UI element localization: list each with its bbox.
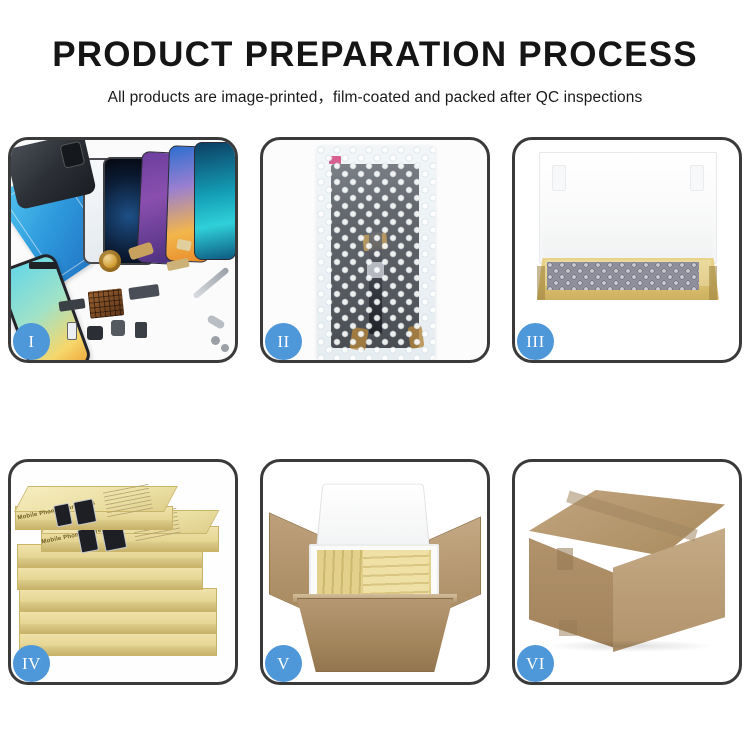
- stacked-box-3: [17, 566, 203, 590]
- box-lid-tab-right: [690, 165, 704, 191]
- step-badge-2: II: [265, 323, 302, 360]
- box-lid-tab-left: [552, 165, 566, 191]
- step-badge-4: IV: [13, 645, 50, 682]
- step-5-image: [263, 462, 487, 682]
- carton-tape-mark-left: [557, 548, 573, 570]
- carton-shadow: [545, 640, 715, 652]
- part-screw-icon: [211, 336, 220, 345]
- step-6-image: [515, 462, 739, 682]
- step-1-image: [11, 140, 235, 360]
- repair-tool-icon: [192, 267, 230, 300]
- part-speaker-icon: [87, 326, 103, 340]
- carton-front-panel: [297, 598, 453, 672]
- part-screw-2-icon: [221, 344, 229, 352]
- step-panel-1: I: [8, 137, 238, 363]
- bubble-wrapped-contents: [547, 262, 699, 290]
- bubble-wrap-bag: [317, 146, 435, 360]
- page-title: PRODUCT PREPARATION PROCESS: [0, 37, 750, 74]
- tray-edge-right: [709, 266, 717, 300]
- step-badge-6: VI: [517, 645, 554, 682]
- step-panel-2: II: [260, 137, 490, 363]
- stacked-box-bottom: [19, 632, 217, 656]
- chip-grid-icon: [88, 288, 125, 318]
- step-panel-3: III: [512, 137, 742, 363]
- carton-tape-mark-bottom: [559, 620, 577, 636]
- page-header: PRODUCT PREPARATION PROCESS All products…: [0, 0, 750, 107]
- bubble-texture: [317, 146, 435, 360]
- stacked-box-5: [19, 610, 217, 634]
- step-2-image: [263, 140, 487, 360]
- step-panel-4: Mobile Phone Spare Parts Mobile Phone Sp…: [8, 459, 238, 685]
- step-4-image: Mobile Phone Spare Parts Mobile Phone Sp…: [11, 462, 235, 682]
- page-subtitle: All products are image-printed，film-coat…: [0, 85, 750, 107]
- stacked-box-4: [19, 588, 217, 612]
- box-stack: Mobile Phone Spare Parts Mobile Phone Sp…: [11, 462, 235, 682]
- step-panel-6: VI: [512, 459, 742, 685]
- step-badge-5: V: [265, 645, 302, 682]
- part-sim-tray-icon: [67, 322, 77, 340]
- part-flex-icon: [58, 298, 85, 312]
- copper-coil-icon: [99, 250, 121, 272]
- part-strip-icon: [29, 262, 57, 269]
- process-steps-grid: I II: [8, 137, 742, 687]
- step-panel-5: V: [260, 459, 490, 685]
- product-preparation-page: PRODUCT PREPARATION PROCESS All products…: [0, 0, 750, 750]
- box-screen-graphic-2: [73, 498, 97, 525]
- tray-edge-left: [537, 266, 545, 300]
- box-lid-top: [14, 486, 178, 512]
- part-cable-icon: [128, 284, 159, 300]
- foam-insert: [543, 194, 713, 266]
- step-3-image: [515, 140, 739, 360]
- part-module-icon: [135, 322, 147, 338]
- phone-teal-icon: [194, 142, 235, 260]
- part-camera-icon: [111, 320, 125, 336]
- step-badge-1: I: [13, 323, 50, 360]
- part-tweezer-icon: [206, 314, 226, 330]
- step-badge-3: III: [517, 323, 554, 360]
